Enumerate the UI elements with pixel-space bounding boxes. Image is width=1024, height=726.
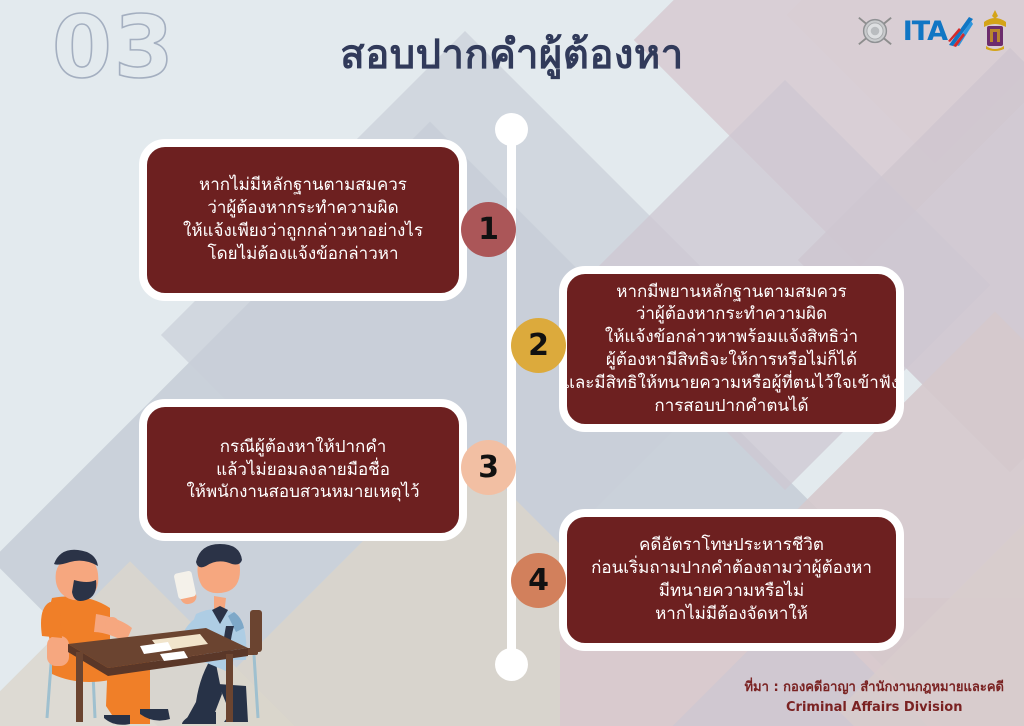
step-4-line-3: มีทนายความหรือไม่	[659, 580, 805, 603]
step-2-line-4: ผู้ต้องหามีสิทธิจะให้การหรือไม่ก็ได้	[606, 349, 857, 372]
step-4-line-4: หากไม่มีต้องจัดหาให้	[655, 603, 808, 626]
step-2-line-5: และมีสิทธิให้ทนายความหรือผู้ที่ตนไว้ใจเข…	[564, 372, 899, 395]
step-2-line-3: ให้แจ้งข้อกล่าวหาพร้อมแจ้งสิทธิว่า	[605, 326, 858, 349]
source-credit: ที่มา : กองคดีอาญา สำนักงานกฎหมายและคดี …	[744, 678, 1004, 718]
step-box-1[interactable]: หากไม่มีหลักฐานตามสมควร ว่าผู้ต้องหากระท…	[139, 139, 467, 301]
step-badge-2[interactable]: 2	[511, 318, 566, 373]
timeline-cap-top	[495, 113, 528, 146]
step-1-line-3: ให้แจ้งเพียงว่าถูกกล่าวหาอย่างไร	[183, 220, 423, 243]
step-box-2[interactable]: หากมีพยานหลักฐานตามสมควร ว่าผู้ต้องหากระ…	[559, 266, 904, 432]
step-2-line-2: ว่าผู้ต้องหากระทำความผิด	[636, 303, 827, 326]
step-2-line-6: การสอบปากคำตนได้	[654, 395, 808, 418]
ita-logo-text: ITA	[903, 18, 947, 45]
step-box-4[interactable]: คดีอัตราโทษประหารชีวิต ก่อนเริ่มถามปากคำ…	[559, 509, 904, 651]
step-1-line-1: หากไม่มีหลักฐานตามสมควร	[199, 174, 407, 197]
step-badge-3[interactable]: 3	[461, 440, 516, 495]
step-badge-1[interactable]: 1	[461, 202, 516, 257]
step-3-line-1: กรณีผู้ต้องหาให้ปากคำ	[220, 436, 387, 459]
timeline-cap-bottom	[495, 648, 528, 681]
ita-swoosh-icon	[947, 15, 973, 47]
step-badge-4[interactable]: 4	[511, 553, 566, 608]
step-box-3[interactable]: กรณีผู้ต้องหาให้ปากคำ แล้วไม่ยอมลงลายมือ…	[139, 399, 467, 541]
step-3-line-3: ให้พนักงานสอบสวนหมายเหตุไว้	[186, 481, 419, 504]
credit-line-thai: ที่มา : กองคดีอาญา สำนักงานกฎหมายและคดี	[744, 678, 1004, 698]
ita-logo-icon: ITA	[903, 14, 973, 48]
credit-line-english: Criminal Affairs Division	[744, 698, 1004, 718]
step-4-line-1: คดีอัตราโทษประหารชีวิต	[639, 534, 824, 557]
royal-thai-police-seal-icon	[856, 12, 894, 50]
step-1-line-4: โดยไม่ต้องแจ้งข้อกล่าวหา	[207, 243, 398, 266]
step-2-line-1: หากมีพยานหลักฐานตามสมควร	[616, 281, 846, 304]
police-interrogation-illustration	[0, 536, 280, 726]
logo-row: ITA	[856, 8, 1008, 54]
step-4-line-2: ก่อนเริ่มถามปากคำต้องถามว่าผู้ต้องหา	[591, 557, 872, 580]
infographic-slide: 03 สอบปากคำผู้ต้องหา ITA	[0, 0, 1024, 726]
step-3-line-2: แล้วไม่ยอมลงลายมือชื่อ	[216, 459, 390, 482]
garuda-emblem-icon	[982, 10, 1008, 52]
step-1-line-2: ว่าผู้ต้องหากระทำความผิด	[207, 197, 398, 220]
